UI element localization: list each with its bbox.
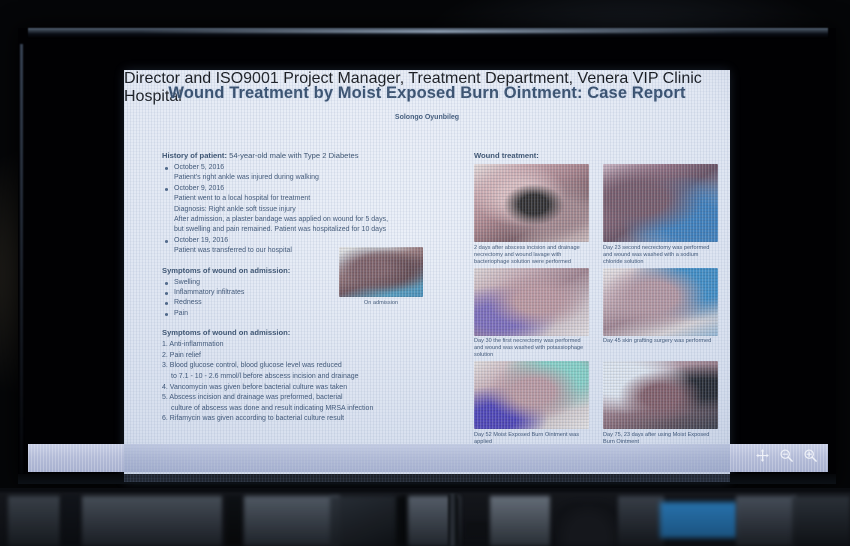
photo-pixel-texture	[603, 361, 718, 429]
item-number: 6.	[162, 415, 168, 422]
monitor-bezel-left	[20, 44, 23, 474]
history-line: Diagnosis: Right ankle soft tissue injur…	[162, 205, 462, 215]
wound-treatment-heading: Wound treatment:	[474, 151, 718, 160]
history-list: October 5, 2016 Patient's right ankle wa…	[162, 163, 462, 257]
photo-pixel-texture	[474, 268, 589, 336]
zoom-in-icon[interactable]	[803, 448, 818, 463]
history-line: Patient went to a local hospital for tre…	[162, 194, 462, 204]
list-item: October 5, 2016	[162, 163, 462, 173]
monitor-bezel-highlight	[138, 30, 738, 33]
monitor-bezel-bottom	[18, 474, 836, 484]
photo-caption: Day 30 the first necrectomy was performe…	[474, 338, 589, 359]
fg-stand-pole	[448, 494, 457, 546]
item-text: Vancomycin was given before bacterial cu…	[170, 384, 347, 391]
list-item: 6. Rifamycin was given according to bact…	[162, 414, 462, 425]
list-item: 1. Anti-inflammation	[162, 340, 462, 351]
photo-pixel-texture	[603, 164, 718, 242]
list-item: 4. Vancomycin was given before bacterial…	[162, 383, 462, 394]
photo-pixel-texture	[603, 268, 718, 336]
fg-shape	[618, 496, 664, 546]
fg-shape	[244, 496, 340, 546]
history-line: but swelling and pain remained. Patient …	[162, 225, 462, 235]
history-line: Patient's right ankle was injured during…	[162, 173, 462, 183]
wound-photo-cell: 2 days after abscess incision and draina…	[474, 164, 589, 266]
photo-caption: 2 days after abscess incision and draina…	[474, 245, 589, 266]
photo-caption: Day 45 skin grafting surgery was perform…	[603, 338, 718, 345]
viewer-toolbar	[755, 448, 818, 463]
fg-shape	[82, 496, 222, 546]
item-number: 1.	[162, 341, 168, 348]
treatment-list: 1. Anti-inflammation 2. Pain relief 3. B…	[162, 340, 462, 425]
item-number: 3.	[162, 362, 168, 369]
wound-photo-on-admission	[339, 247, 423, 297]
history-date: October 19, 2016	[174, 237, 228, 244]
list-item: 3. Blood glucose control, blood glucose …	[162, 361, 462, 382]
slide-title: Wound Treatment by Moist Exposed Burn Oi…	[124, 84, 730, 103]
photo-pixel-texture	[474, 361, 589, 429]
item-number: 5.	[162, 394, 168, 401]
fg-shape	[736, 496, 796, 546]
photo-pixel-texture	[339, 247, 423, 297]
wound-photo-cell: Day 23 second necrectomy was performed a…	[603, 164, 718, 266]
viewer-bottom-bar: Back to search	[28, 444, 828, 472]
wound-photo-grid: 2 days after abscess incision and draina…	[474, 164, 718, 446]
fg-stand-clamp	[466, 522, 488, 536]
item-number: 4.	[162, 384, 168, 391]
wound-photo-day52	[474, 361, 589, 429]
photo-caption: On admission	[339, 300, 423, 307]
display-monitor: Wound Treatment by Moist Exposed Burn Oi…	[18, 28, 836, 484]
history-heading: History of patient: 54-year-old male wit…	[162, 151, 462, 160]
item-text: Blood glucose control, blood glucose lev…	[170, 362, 342, 369]
item-text: Abscess incision and drainage was prefor…	[169, 394, 342, 401]
item-text: Pain relief	[170, 352, 201, 359]
zoom-out-icon[interactable]	[779, 448, 794, 463]
history-heading-label: History of patient:	[162, 151, 227, 160]
list-item: 5. Abscess incision and drainage was pre…	[162, 393, 462, 414]
item-text: Anti-inflammation	[169, 341, 223, 348]
pan-icon[interactable]	[755, 448, 770, 463]
history-line: After admission, a plaster bandage was a…	[162, 215, 462, 225]
wound-photo-day23	[603, 164, 718, 242]
history-heading-rest: 54-year-old male with Type 2 Diabetes	[227, 151, 359, 160]
history-date: October 9, 2016	[174, 185, 224, 192]
foreground-equipment	[0, 488, 850, 546]
admission-photo-block: On admission	[339, 247, 423, 307]
wound-photo-day75	[603, 361, 718, 429]
room-scene: Wound Treatment by Moist Exposed Burn Oi…	[0, 0, 850, 546]
list-item: Pain	[162, 309, 462, 319]
photo-pixel-texture	[474, 164, 589, 242]
wound-photo-day30	[474, 268, 589, 336]
wound-photo-cell: Day 30 the first necrectomy was performe…	[474, 268, 589, 360]
fg-shape	[8, 496, 60, 546]
item-continuation: to 7.1 - 10 - 2.6 mmol/l before abscess …	[162, 372, 462, 383]
fg-shape	[490, 496, 550, 546]
wound-photo-cell: Day 75, 23 days after using Moist Expose…	[603, 361, 718, 446]
history-date: October 5, 2016	[174, 164, 224, 171]
item-number: 2.	[162, 352, 168, 359]
treatment-heading: Symptoms of wound on admission:	[162, 328, 462, 337]
list-item: October 19, 2016	[162, 236, 462, 246]
wound-photo-day45	[603, 268, 718, 336]
fg-blue-panel	[660, 502, 738, 538]
wound-photo-day2	[474, 164, 589, 242]
presentation-slide: Wound Treatment by Moist Exposed Burn Oi…	[124, 70, 730, 482]
list-item: October 9, 2016	[162, 184, 462, 194]
photo-caption: Day 23 second necrectomy was performed a…	[603, 245, 718, 266]
slide-right-column: Wound treatment: 2 days after abscess in…	[474, 151, 718, 446]
wound-photo-cell: Day 45 skin grafting surgery was perform…	[603, 268, 718, 360]
fg-shape	[62, 496, 80, 546]
item-continuation: culture of abscess was done and result i…	[162, 404, 462, 415]
wound-photo-cell: Day 52 Moist Exposed Burn Ointment was a…	[474, 361, 589, 446]
fg-shape	[330, 496, 400, 546]
slide-author: Solongo Oyunbileg	[124, 114, 730, 121]
list-item: 2. Pain relief	[162, 351, 462, 362]
item-text: Rifamycin was given according to bacteri…	[170, 415, 344, 422]
fg-shape	[792, 496, 850, 546]
fg-person-silhouette	[556, 502, 620, 546]
fg-shape	[226, 496, 242, 546]
